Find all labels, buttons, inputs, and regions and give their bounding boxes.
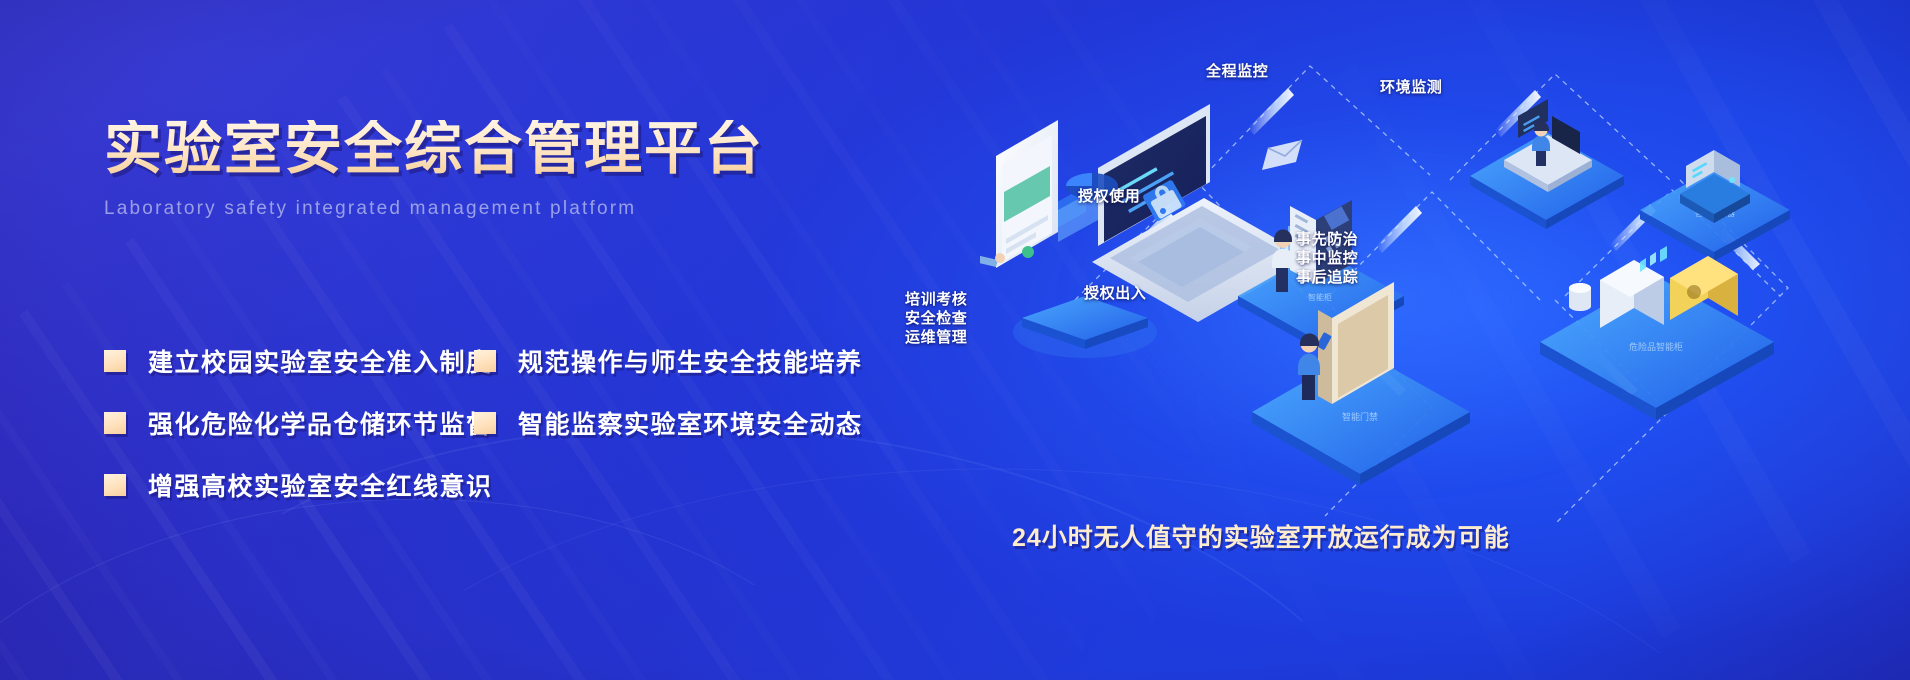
bottom-caption: 24小时无人值守的实验室开放运行成为可能 <box>1012 518 1510 554</box>
bullet-row: 建立校园实验室安全准入制度 规范操作与师生安全技能培养 <box>104 330 1004 392</box>
list-item: 规范操作与师生安全技能培养 <box>474 330 863 392</box>
list-item: 智能监察实验室环境安全动态 <box>474 392 863 454</box>
diagram-label-环境监测: 环境监测 <box>1380 76 1442 97</box>
scene-smart-monitor: 智能监控 <box>1470 99 1624 229</box>
bullet-square-icon <box>474 350 496 372</box>
label-line: 事中监控 <box>1296 249 1358 268</box>
label-line: 事后追踪 <box>1296 268 1358 287</box>
bullet-row: 增强高校实验室安全红线意识 <box>104 454 1004 516</box>
bullet-square-icon <box>104 474 126 496</box>
diagram-label-全程监控: 全程监控 <box>1206 60 1268 81</box>
headline-block: 实验室安全综合管理平台 Laboratory safety integrated… <box>104 120 984 220</box>
label-line: 培训考核 <box>905 290 967 309</box>
isometric-diagram: 智能柜 <box>980 0 1910 680</box>
diagram-label-事先防治组: 事先防治 事中监控 事后追踪 <box>1296 230 1358 287</box>
page-subtitle: Laboratory safety integrated management … <box>104 198 984 220</box>
list-item: 建立校园实验室安全准入制度 <box>104 330 474 392</box>
bullet-row: 强化危险化学品仓储环节监督 智能监察实验室环境安全动态 <box>104 392 1004 454</box>
diagram-label-授权使用: 授权使用 <box>1078 185 1140 206</box>
platform-caption: 智能门禁 <box>1342 411 1378 422</box>
bullet-square-icon <box>104 412 126 434</box>
bullet-label: 强化危险化学品仓储环节监督 <box>148 405 493 441</box>
scene-chemical-storage: 危险品智能柜 <box>1540 246 1774 420</box>
bullet-square-icon <box>474 412 496 434</box>
platform-caption: 危险品智能柜 <box>1629 341 1683 352</box>
label-line: 事先防治 <box>1296 230 1358 249</box>
list-item: 增强高校实验室安全红线意识 <box>104 454 474 516</box>
page-title: 实验室安全综合管理平台 <box>104 120 984 178</box>
label-line: 安全检查 <box>905 309 967 328</box>
bullet-label: 增强高校实验室安全红线意识 <box>148 467 493 503</box>
bullet-label: 规范操作与师生安全技能培养 <box>518 343 863 379</box>
diagram-canvas: 智能柜 <box>980 0 1910 680</box>
diagram-label-培训考核组: 培训考核 安全检查 运维管理 <box>905 290 967 347</box>
bullet-label: 建立校园实验室安全准入制度 <box>148 343 493 379</box>
bullet-label: 智能监察实验室环境安全动态 <box>518 405 863 441</box>
scene-env-sensor: 智能传感器 <box>1640 150 1790 261</box>
banner-root: 实验室安全综合管理平台 Laboratory safety integrated… <box>0 0 1910 680</box>
platform-caption: 智能柜 <box>1308 292 1332 302</box>
list-item: 强化危险化学品仓储环节监督 <box>104 392 474 454</box>
feature-bullet-list: 建立校园实验室安全准入制度 规范操作与师生安全技能培养 强化危险化学品仓储环节监… <box>104 330 1004 516</box>
label-line: 运维管理 <box>905 328 967 347</box>
bullet-square-icon <box>104 350 126 372</box>
diagram-label-授权出入: 授权出入 <box>1084 282 1146 303</box>
